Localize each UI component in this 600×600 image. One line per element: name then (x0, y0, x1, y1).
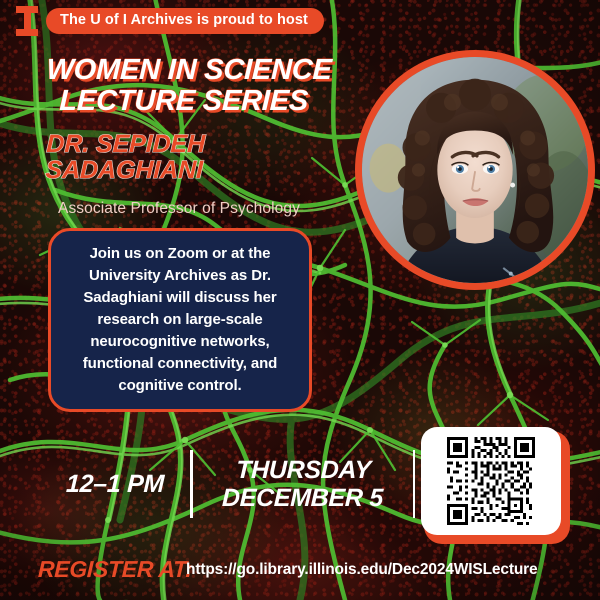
description-line: Sadaghiani will discuss her (83, 287, 277, 309)
event-time: 12–1 PM (39, 470, 190, 499)
host-banner: The U of I Archives is proud to host (46, 8, 324, 35)
title-block: WOMEN IN SCIENCE LECTURE SERIES DR. SEPI… (46, 55, 356, 218)
register-label: REGISTER AT: (38, 556, 193, 583)
description-line: University Archives as Dr. (83, 265, 277, 287)
description-line: cognitive control. (83, 375, 277, 397)
illinois-block-i-icon (16, 6, 38, 36)
event-date: THURSDAY DECEMBER 5 (192, 456, 414, 512)
description-box: Join us on Zoom or at the University Arc… (48, 228, 312, 412)
description-line: functional connectivity, and (83, 353, 277, 375)
description-line: neurocognitive networks, (83, 331, 277, 353)
qr-code-panel[interactable] (421, 427, 561, 535)
series-title-line-2: LECTURE SERIES (59, 86, 356, 117)
poster-canvas: The U of I Archives is proud to host WOM… (0, 0, 600, 600)
avatar (362, 57, 588, 283)
event-date-text: DECEMBER 5 (198, 484, 407, 512)
description-line: Join us on Zoom or at the (83, 243, 277, 265)
event-when-row: 12–1 PM THURSDAY DECEMBER 5 (40, 446, 415, 522)
event-day: THURSDAY (199, 456, 408, 484)
description-line: research on large-scale (83, 309, 277, 331)
qr-code-icon[interactable] (447, 437, 535, 525)
register-url[interactable]: https://go.library.illinois.edu/Dec2024W… (186, 561, 538, 579)
series-title: WOMEN IN SCIENCE LECTURE SERIES (45, 55, 357, 117)
speaker-portrait-frame (355, 50, 595, 290)
series-title-line-1: WOMEN IN SCIENCE (46, 55, 357, 86)
speaker-name: DR. SEPIDEH SADAGHIANI (45, 131, 357, 184)
description-text: Join us on Zoom or at the University Arc… (83, 243, 277, 397)
speaker-role: Associate Professor of Psychology (58, 200, 356, 219)
header-bar: The U of I Archives is proud to host (16, 6, 324, 36)
